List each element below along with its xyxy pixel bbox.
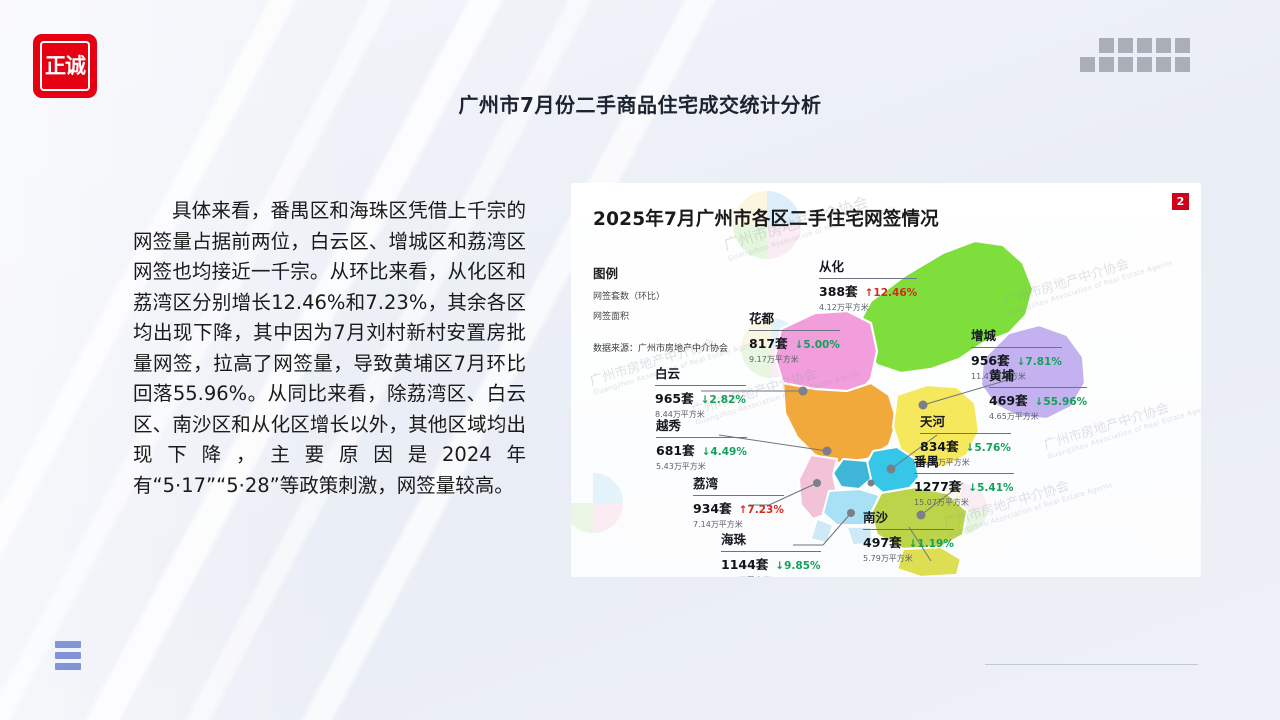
- district-label-huadu: 花都 817套 ↓5.00% 9.17万平方米: [749, 308, 840, 365]
- decorative-square: [1099, 38, 1114, 53]
- legend-row-suites: 网签套数（环比）: [593, 289, 728, 302]
- district-label-baiyun: 白云 965套 ↓2.82% 8.44万平方米: [655, 363, 746, 420]
- body-paragraph: 具体来看，番禺区和海珠区凭借上千宗的网签量占据前两位，白云区、增城区和荔湾区网签…: [133, 196, 526, 501]
- district-label-haizhu: 海珠 1144套 ↓9.85% 9.37万平方米: [721, 529, 821, 577]
- decorative-square: [1118, 57, 1133, 72]
- legend-title: 图例: [593, 263, 728, 282]
- decorative-square: [1175, 57, 1190, 72]
- legend-source: 数据来源：广州市房地产中介协会: [593, 341, 728, 354]
- district-label-liwan: 荔湾 934套 ↑7.23% 7.14万平方米: [693, 473, 784, 530]
- decorative-bars-icon: [55, 641, 81, 674]
- district-label-panyu: 番禺 1277套 ↓5.41% 15.07万平方米: [914, 451, 1014, 508]
- decorative-square: [1156, 57, 1171, 72]
- district-shape-yuexiu: [833, 459, 871, 489]
- decorative-square: [1099, 57, 1114, 72]
- map-figure: 广州市房地产中介协会Guangzhou Association of Real …: [571, 183, 1201, 577]
- decorative-square: [1118, 38, 1133, 53]
- map-legend: 图例 网签套数（环比） 网签面积 数据来源：广州市房地产中介协会: [593, 263, 728, 354]
- map-title: 2025年7月广州市各区二手住宅网签情况: [593, 205, 939, 231]
- decorative-square: [1175, 38, 1190, 53]
- decorative-square: [1080, 57, 1095, 72]
- district-label-yuexiu: 越秀 681套 ↓4.49% 5.43万平方米: [656, 415, 747, 472]
- decorative-square: [1137, 57, 1152, 72]
- logo-text: 正诚: [45, 56, 85, 77]
- logo-frame: 正诚: [40, 41, 90, 91]
- page-number-badge: 2: [1172, 193, 1189, 210]
- district-label-nansha: 南沙 497套 ↓1.19% 5.79万平方米: [863, 507, 954, 564]
- decorative-checker-squares: [1080, 38, 1208, 72]
- decorative-square: [1137, 38, 1152, 53]
- decorative-square: [1156, 38, 1171, 53]
- legend-row-area: 网签面积: [593, 309, 728, 322]
- district-label-conghua: 从化 388套 ↑12.46% 4.12万平方米: [819, 256, 917, 313]
- page-title: 广州市7月份二手商品住宅成交统计分析: [0, 89, 1280, 118]
- footer-divider: [985, 664, 1198, 665]
